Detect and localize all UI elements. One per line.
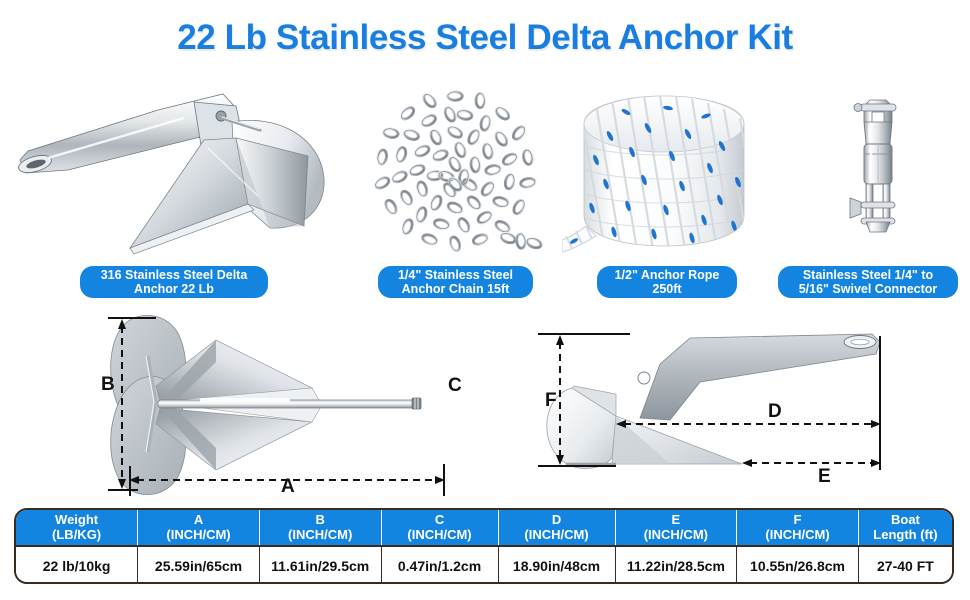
cell-weight: 22 lb/10kg <box>16 546 138 584</box>
dim-label-b: B <box>101 374 115 396</box>
product-image-anchor <box>8 78 338 263</box>
cell-d: 18.90in/48cm <box>498 546 615 584</box>
cell-c: 0.47in/1.2cm <box>381 546 498 584</box>
dim-label-c: C <box>448 375 462 397</box>
spec-table-header-row: Weight (LB/KG) A (INCH/CM) B (INCH/CM) C… <box>16 510 952 546</box>
cell-f: 10.55n/26.8cm <box>737 546 859 584</box>
cell-a: 25.59in/65cm <box>138 546 260 584</box>
table-row: 22 lb/10kg 25.59in/65cm 11.61in/29.5cm 0… <box>16 546 952 584</box>
col-header-weight: Weight (LB/KG) <box>16 510 138 546</box>
col-header-c: C (INCH/CM) <box>381 510 498 546</box>
page-title: 22 Lb Stainless Steel Delta Anchor Kit <box>0 18 970 58</box>
badge-swivel: Stainless Steel 1/4" to 5/16" Swivel Con… <box>778 266 958 298</box>
badge-anchor: 316 Stainless Steel Delta Anchor 22 Lb <box>80 266 268 298</box>
product-image-swivel <box>828 82 928 262</box>
col-header-d: D (INCH/CM) <box>498 510 615 546</box>
dim-label-f: F <box>545 390 557 412</box>
cell-b: 11.61in/29.5cm <box>259 546 381 584</box>
diagram-anchor-top-view <box>60 310 510 500</box>
badge-swivel-label: Stainless Steel 1/4" to 5/16" Swivel Con… <box>799 268 938 296</box>
badge-rope-label: 1/2" Anchor Rope 250ft <box>615 268 720 296</box>
badge-anchor-label: 316 Stainless Steel Delta Anchor 22 Lb <box>101 268 248 296</box>
dim-label-a: A <box>281 476 295 498</box>
badge-chain-label: 1/4" Stainless Steel Anchor Chain 15ft <box>398 268 513 296</box>
col-header-f: F (INCH/CM) <box>737 510 859 546</box>
badge-chain: 1/4" Stainless Steel Anchor Chain 15ft <box>378 266 533 298</box>
diagram-anchor-side-view <box>520 320 960 500</box>
col-header-boat-length: Boat Length (ft) <box>858 510 952 546</box>
product-image-rope <box>562 76 762 266</box>
cell-boat-length: 27-40 FT <box>858 546 952 584</box>
col-header-b: B (INCH/CM) <box>259 510 381 546</box>
infographic-page: 22 Lb Stainless Steel Delta Anchor Kit <box>0 0 970 600</box>
product-image-chain <box>358 78 553 263</box>
col-header-e: E (INCH/CM) <box>615 510 737 546</box>
dim-label-d: D <box>768 401 782 423</box>
dim-label-e: E <box>818 466 831 488</box>
badge-rope: 1/2" Anchor Rope 250ft <box>597 266 737 298</box>
col-header-a: A (INCH/CM) <box>138 510 260 546</box>
cell-e: 11.22in/28.5cm <box>615 546 737 584</box>
spec-table: Weight (LB/KG) A (INCH/CM) B (INCH/CM) C… <box>14 508 954 584</box>
